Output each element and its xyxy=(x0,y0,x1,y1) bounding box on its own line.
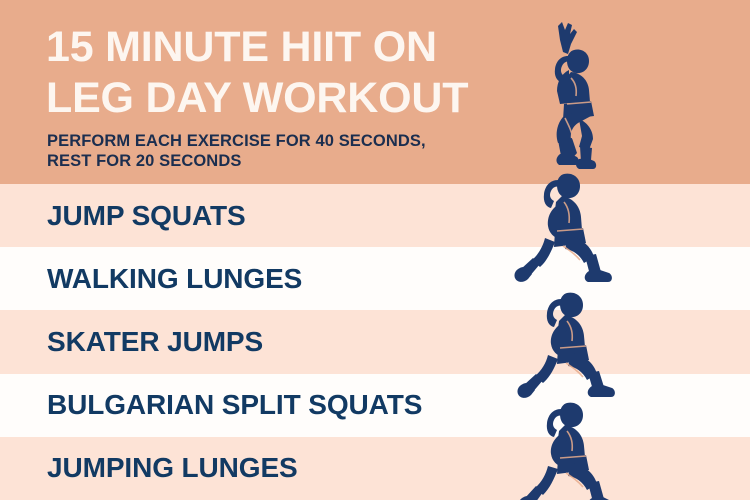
exercise-label: Skater Jumps xyxy=(47,326,263,358)
list-item: Jump Squats xyxy=(0,184,750,247)
exercise-label: Walking Lunges xyxy=(47,263,302,295)
instructions-subtitle: Perform each exercise for 40 seconds, re… xyxy=(47,131,467,171)
list-item: Jumping Lunges xyxy=(0,437,750,500)
page-title: 15 Minute HIIT on Leg Day Workout xyxy=(46,22,516,124)
exercise-list: Jump Squats Walking Lunges Skater Jumps … xyxy=(0,184,750,500)
exercise-label: Bulgarian Split Squats xyxy=(47,389,422,421)
list-item: Bulgarian Split Squats xyxy=(0,374,750,437)
list-item: Walking Lunges xyxy=(0,247,750,310)
workout-poster: 15 Minute HIIT on Leg Day Workout Perfor… xyxy=(0,0,750,500)
list-item: Skater Jumps xyxy=(0,310,750,373)
exercise-label: Jump Squats xyxy=(47,200,246,232)
exercise-label: Jumping Lunges xyxy=(47,452,298,484)
